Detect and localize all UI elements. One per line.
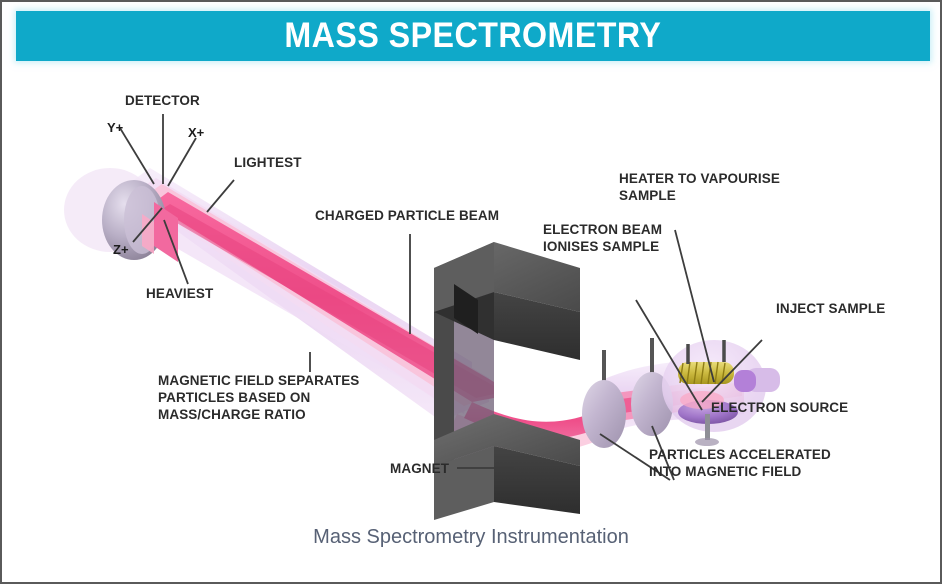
mass-spectrometry-infographic: MASS SPECTROMETRY [0,0,942,584]
label-lightest: LIGHTEST [234,154,302,171]
label-particles-accelerated: PARTICLES ACCELERATED INTO MAGNETIC FIEL… [649,446,831,480]
figure-caption: Mass Spectrometry Instrumentation [2,526,940,549]
magnet [434,242,580,520]
ionisation-chamber [662,340,766,446]
label-y-ion: Y+ [107,120,123,135]
label-charged-particle-beam: CHARGED PARTICLE BEAM [315,207,499,224]
heater-coil [678,362,734,384]
label-electron-source: ELECTRON SOURCE [711,399,848,416]
label-electron-beam: ELECTRON BEAM IONISES SAMPLE [543,221,662,255]
label-z-ion: Z+ [113,242,129,257]
accelerator-plate-1 [582,350,626,448]
page-title: MASS SPECTROMETRY [285,16,662,56]
label-heaviest: HEAVIEST [146,285,213,302]
label-x-ion: X+ [188,125,204,140]
label-inject-sample: INJECT SAMPLE [776,300,885,317]
label-magnet: MAGNET [390,460,449,477]
header-banner: MASS SPECTROMETRY [16,11,930,61]
inject-sample-tube [734,368,780,392]
label-magnetic-field: MAGNETIC FIELD SEPARATES PARTICLES BASED… [158,372,359,423]
label-detector: DETECTOR [125,92,200,109]
label-heater: HEATER TO VAPOURISE SAMPLE [619,170,780,204]
